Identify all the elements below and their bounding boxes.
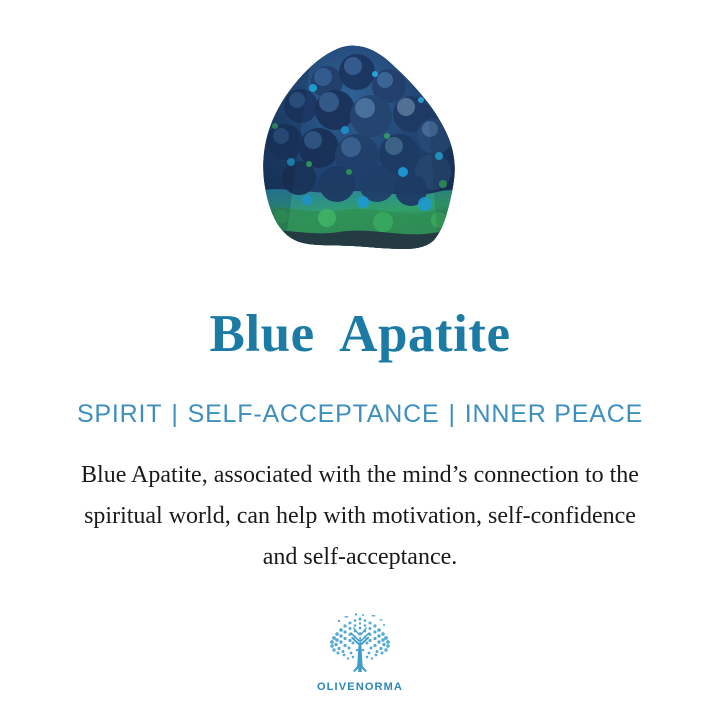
description-line: and self-acceptance. bbox=[30, 537, 690, 578]
brand-logo: OLIVENORMA bbox=[0, 612, 720, 693]
brand-name: OLIVENORMA bbox=[317, 681, 403, 693]
specimen-body bbox=[253, 44, 467, 259]
blue-apatite-crystal-specimen bbox=[253, 44, 467, 259]
description-line: Blue Apatite, associated with the mind’s… bbox=[30, 455, 690, 496]
specimen-image-container bbox=[0, 34, 720, 259]
description-line: spiritual world, can help with motivatio… bbox=[30, 496, 690, 537]
keyword-separator: | bbox=[162, 400, 187, 428]
description-paragraph: Blue Apatite, associated with the mind’s… bbox=[30, 455, 690, 578]
keyword-spirit: SPIRIT bbox=[77, 400, 162, 428]
page-title: Blue Apatite bbox=[0, 304, 720, 364]
tree-icon bbox=[322, 612, 398, 678]
keyword-list: SPIRIT|SELF-ACCEPTANCE|INNER PEACE bbox=[0, 398, 720, 430]
keyword-self-acceptance: SELF-ACCEPTANCE bbox=[188, 400, 440, 428]
product-info-card: Blue Apatite SPIRIT|SELF-ACCEPTANCE|INNE… bbox=[0, 0, 720, 720]
keyword-separator: | bbox=[439, 400, 464, 428]
keyword-inner-peace: INNER PEACE bbox=[465, 400, 643, 428]
